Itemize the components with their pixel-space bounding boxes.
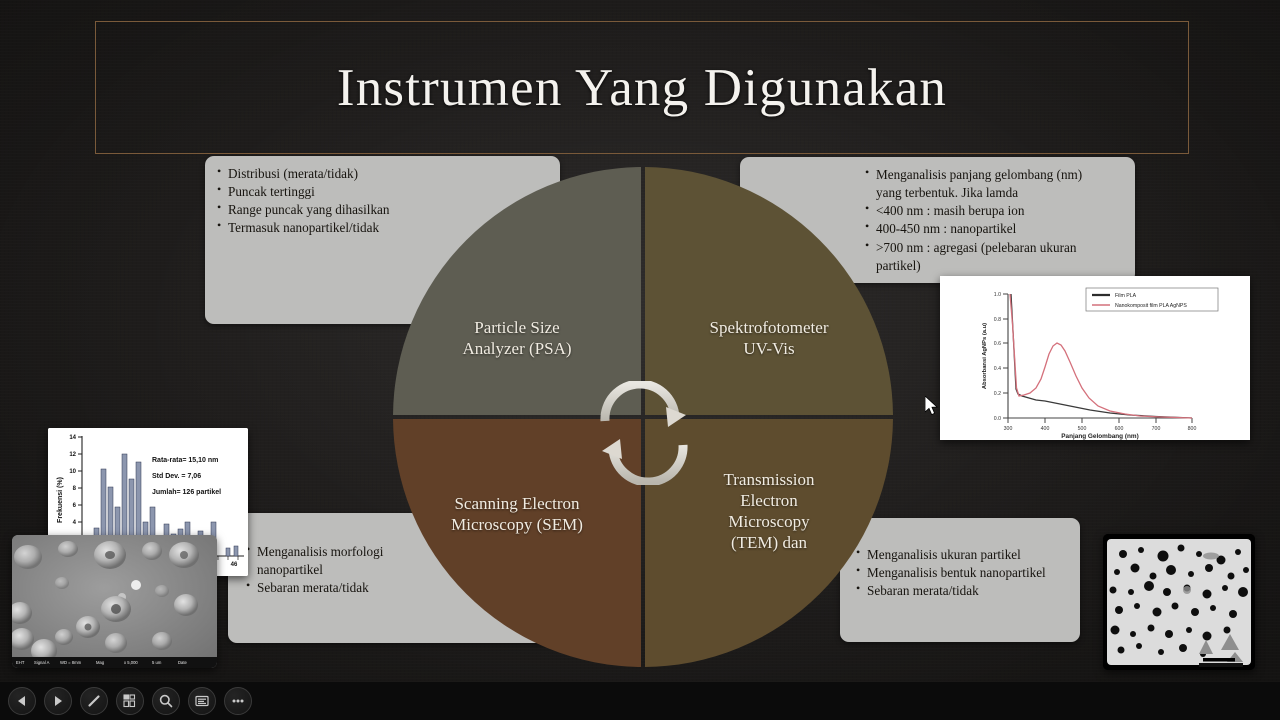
svg-text:500: 500 — [1078, 426, 1087, 432]
quadrant-spectrophotometer-uvvis[interactable] — [645, 167, 893, 415]
svg-text:Signal A: Signal A — [34, 660, 50, 665]
all-slides-button[interactable] — [116, 687, 144, 715]
svg-text:0.8: 0.8 — [994, 317, 1001, 323]
svg-text:46: 46 — [231, 562, 238, 568]
svg-text:700: 700 — [1152, 426, 1161, 432]
svg-text:0.6: 0.6 — [994, 341, 1001, 347]
svg-text:Nanokomposit film PLA AgNPS: Nanokomposit film PLA AgNPS — [1115, 303, 1187, 309]
monitor-icon — [194, 693, 210, 709]
mouse-cursor — [925, 396, 941, 418]
presentation-toolbar — [0, 682, 1280, 720]
triangle-left-icon — [15, 694, 29, 708]
svg-text:14: 14 — [69, 435, 76, 441]
presenter-view-button[interactable] — [188, 687, 216, 715]
svg-text:Jumlah= 126 partikel: Jumlah= 126 partikel — [152, 489, 221, 496]
svg-text:Date: Date — [178, 660, 188, 665]
grid-slides-icon — [122, 693, 138, 709]
quadrant-particle-size-analyzer[interactable] — [393, 167, 641, 415]
svg-text:WD = 8mm: WD = 8mm — [60, 660, 82, 665]
svg-text:800: 800 — [1188, 426, 1197, 432]
cycle-arrows-icon — [596, 381, 692, 485]
svg-text:10: 10 — [69, 469, 76, 475]
svg-text:400: 400 — [1041, 426, 1050, 432]
tem-micrograph-image — [1103, 534, 1255, 670]
magnifier-icon — [158, 693, 174, 709]
more-options-button[interactable] — [224, 687, 252, 715]
pen-icon — [86, 693, 102, 709]
next-slide-button[interactable] — [44, 687, 72, 715]
svg-text:Absorbansi AgNPs (a.u): Absorbansi AgNPs (a.u) — [982, 323, 988, 389]
svg-text:Rata-rata= 15,10 nm: Rata-rata= 15,10 nm — [152, 457, 218, 464]
svg-text:Film PLA: Film PLA — [1115, 293, 1137, 299]
pen-tool-button[interactable] — [80, 687, 108, 715]
svg-text:1.0: 1.0 — [994, 292, 1001, 298]
svg-text:0.4: 0.4 — [994, 366, 1001, 372]
presentation-slide: Instrumen Yang Digunakan Distribusi (mer… — [0, 0, 1280, 682]
title-frame: Instrumen Yang Digunakan — [95, 21, 1189, 154]
svg-text:0.0: 0.0 — [994, 416, 1001, 422]
ellipsis-icon — [230, 693, 246, 709]
svg-text:EHT: EHT — [16, 660, 25, 665]
uvvis-spectrum-image: 0.0 0.2 0.4 0.6 0.8 1.0 300 400 500 600 — [940, 276, 1250, 440]
triangle-right-icon — [51, 694, 65, 708]
svg-text:5 um: 5 um — [152, 660, 162, 665]
svg-text:Mag: Mag — [96, 660, 105, 665]
svg-text:600: 600 — [1115, 426, 1124, 432]
svg-text:300: 300 — [1004, 426, 1013, 432]
sem-micrograph-image: EHT Signal A WD = 8mm Mag x 5,000 5 um D… — [12, 535, 217, 668]
previous-slide-button[interactable] — [8, 687, 36, 715]
svg-text:Frekuensi (%): Frekuensi (%) — [57, 477, 64, 523]
svg-text:x 5,000: x 5,000 — [124, 660, 138, 665]
svg-text:Std Dev. = 7,06: Std Dev. = 7,06 — [152, 473, 201, 480]
svg-text:0.2: 0.2 — [994, 391, 1001, 397]
page-title: Instrumen Yang Digunakan — [337, 58, 947, 118]
svg-text:12: 12 — [69, 452, 76, 458]
zoom-button[interactable] — [152, 687, 180, 715]
svg-text:Panjang Gelombang (nm): Panjang Gelombang (nm) — [1061, 433, 1138, 440]
